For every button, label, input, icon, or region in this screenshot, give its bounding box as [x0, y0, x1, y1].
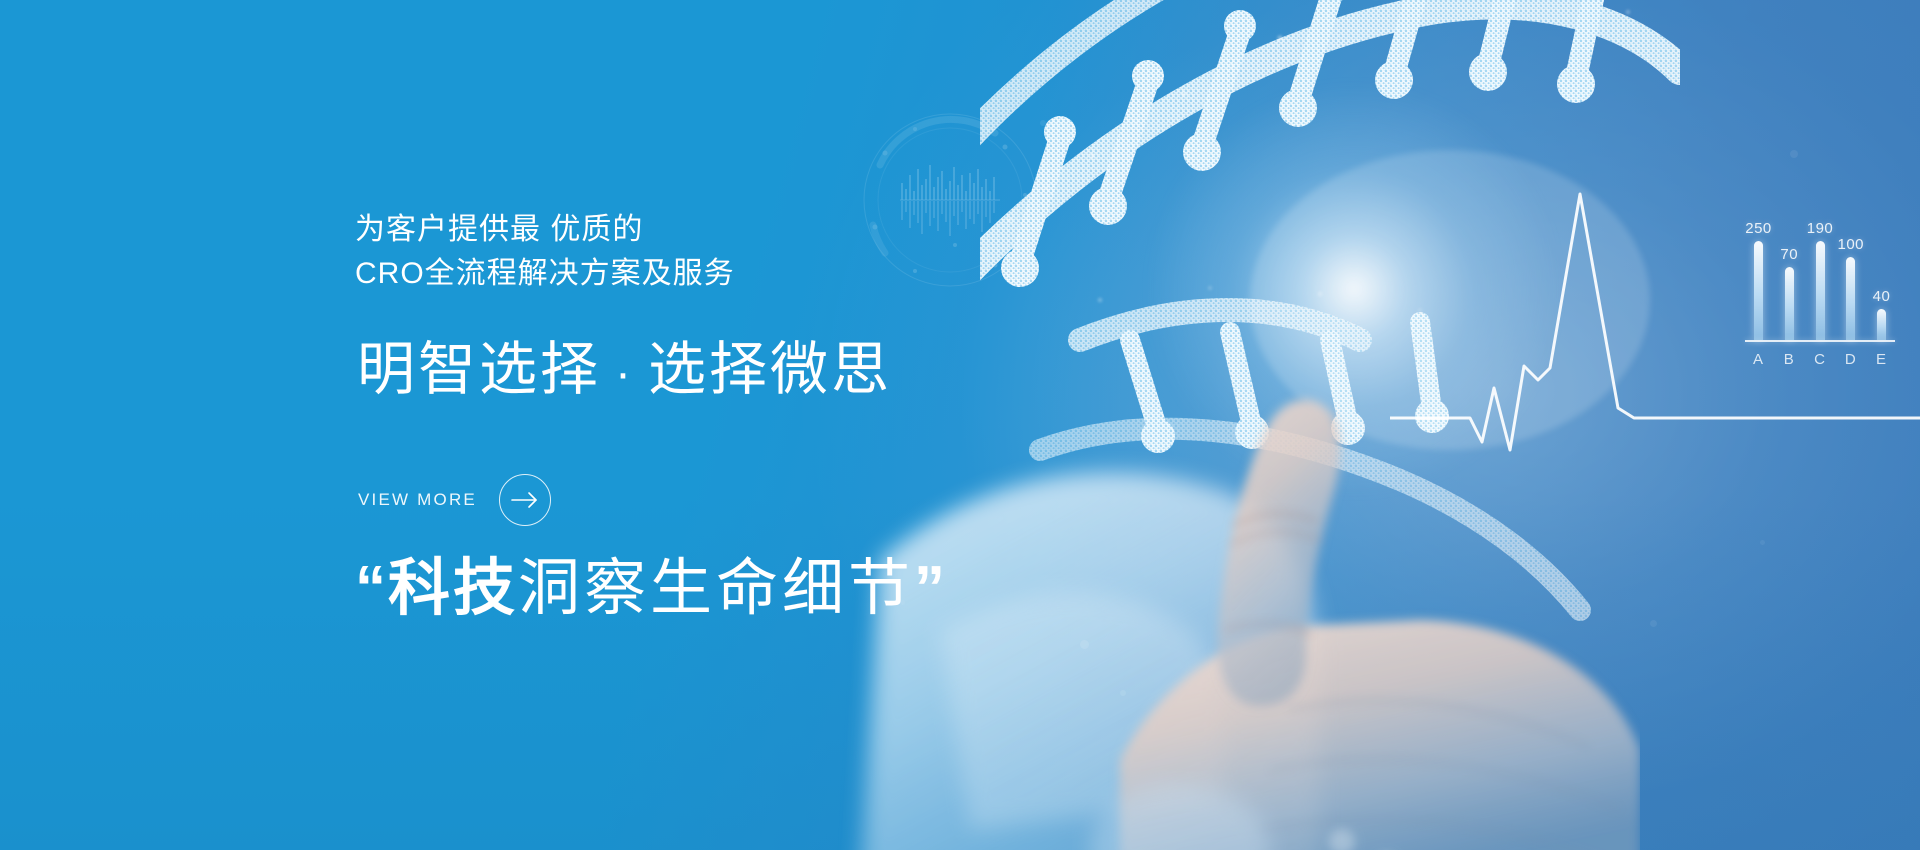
- hero-subtitle: 为客户提供最 优质的CRO全流程解决方案及服务: [355, 208, 735, 295]
- bar: [1754, 241, 1763, 340]
- arrow-right-icon[interactable]: [499, 474, 551, 526]
- bokeh-dot: [1760, 540, 1765, 545]
- bar-column: 190: [1807, 220, 1834, 340]
- hero-subtitle-line-2: CRO全流程解决方案及服务: [355, 257, 735, 290]
- quote-strong-text: 科技: [388, 554, 518, 623]
- bar-column: 40: [1868, 220, 1895, 340]
- bar-value-label: 250: [1745, 220, 1772, 237]
- category-label: E: [1868, 351, 1895, 368]
- hero-content: 为客户提供最 优质的CRO全流程解决方案及服务 明智选择·选择微思 VIEW M…: [355, 0, 1255, 850]
- bar-value-label: 70: [1780, 246, 1798, 263]
- bar-column: 70: [1776, 220, 1803, 340]
- headline-separator: ·: [601, 347, 648, 400]
- bar-value-label: 40: [1873, 288, 1891, 305]
- headline-part-1: 明智选择: [357, 337, 601, 402]
- bar: [1877, 309, 1886, 340]
- bar-chart-axis: [1745, 340, 1895, 342]
- headline-part-2: 选择微思: [648, 337, 892, 402]
- hero-headline: 明智选择·选择微思: [357, 338, 892, 403]
- hero-subtitle-line-1: 为客户提供最 优质的: [355, 213, 643, 246]
- bar-chart-plot: 250 70 190 100 40: [1745, 220, 1895, 340]
- bar-chart-category-labels: A B C D E: [1745, 351, 1895, 368]
- bar: [1785, 267, 1794, 340]
- hero-banner: 250 70 190 100 40 A B C: [0, 0, 1920, 850]
- hero-quote: “科技洞察生命细节”: [355, 555, 947, 623]
- bar-value-label: 100: [1837, 236, 1864, 253]
- category-label: A: [1745, 351, 1772, 368]
- category-label: C: [1807, 351, 1834, 368]
- bar-value-label: 190: [1807, 220, 1834, 237]
- quote-close-mark: ”: [914, 554, 947, 623]
- bar: [1846, 257, 1855, 340]
- bar: [1816, 241, 1825, 340]
- quote-open-mark: “: [355, 554, 388, 623]
- bar-column: 100: [1837, 220, 1864, 340]
- category-label: B: [1776, 351, 1803, 368]
- view-more-label: VIEW MORE: [358, 490, 477, 510]
- bokeh-dot: [1790, 150, 1798, 158]
- bokeh-dot: [1650, 620, 1657, 627]
- bar-chart: 250 70 190 100 40 A B C: [1745, 185, 1895, 370]
- category-label: D: [1837, 351, 1864, 368]
- bar-column: 250: [1745, 220, 1772, 340]
- view-more-button[interactable]: VIEW MORE: [358, 474, 551, 526]
- quote-light-text: 洞察生命细节: [518, 554, 914, 623]
